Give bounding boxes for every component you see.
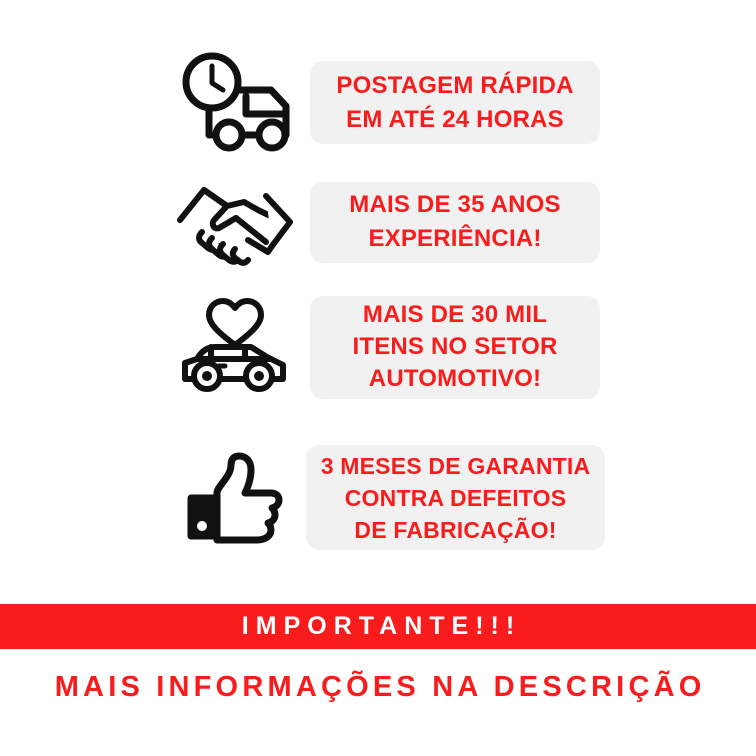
important-headline: IMPORTANTE!!! [235, 612, 521, 641]
feature-text-pill: MAIS DE 35 ANOS EXPERIÊNCIA! [310, 182, 600, 263]
feature-row: 3 MESES DE GARANTIA CONTRA DEFEITOS DE F… [160, 440, 600, 555]
feature-text-line: ITENS NO SETOR [352, 331, 557, 363]
feature-text-line: AUTOMOTIVO! [369, 363, 541, 395]
feature-text-line: MAIS DE 30 MIL [363, 299, 547, 331]
promo-sheet: POSTAGEM RÁPIDA EM ATÉ 24 HORAS [0, 0, 756, 756]
thumbs-up-icon [160, 448, 310, 548]
feature-row: MAIS DE 35 ANOS EXPERIÊNCIA! [160, 172, 600, 272]
feature-text-line: EM ATÉ 24 HORAS [346, 103, 564, 137]
feature-text-pill: POSTAGEM RÁPIDA EM ATÉ 24 HORAS [310, 61, 600, 144]
feature-text-pill: MAIS DE 30 MIL ITENS NO SETOR AUTOMOTIVO… [310, 296, 600, 399]
description-subline: MAIS INFORMAÇÕES NA DESCRIÇÃO [51, 671, 706, 704]
delivery-truck-clock-icon [160, 52, 310, 154]
feature-text-line: 3 MESES DE GARANTIA [321, 450, 591, 482]
feature-text-line: DE FABRICAÇÃO! [354, 514, 556, 546]
feature-text-line: MAIS DE 35 ANOS [349, 188, 561, 222]
important-red-bar: IMPORTANTE!!! [0, 604, 756, 649]
feature-row: POSTAGEM RÁPIDA EM ATÉ 24 HORAS [160, 45, 600, 160]
bottom-banner: IMPORTANTE!!! MAIS INFORMAÇÕES NA DESCRI… [0, 590, 756, 756]
feature-row: MAIS DE 30 MIL ITENS NO SETOR AUTOMOTIVO… [160, 292, 600, 402]
feature-text-line: CONTRA DEFEITOS [345, 482, 567, 514]
car-heart-icon [160, 297, 310, 397]
description-callout: MAIS INFORMAÇÕES NA DESCRIÇÃO [0, 652, 756, 722]
feature-text-line: EXPERIÊNCIA! [368, 222, 541, 256]
feature-text-pill: 3 MESES DE GARANTIA CONTRA DEFEITOS DE F… [306, 445, 605, 550]
feature-list: POSTAGEM RÁPIDA EM ATÉ 24 HORAS [0, 0, 756, 590]
feature-text-line: POSTAGEM RÁPIDA [336, 69, 573, 103]
handshake-icon [160, 176, 310, 268]
